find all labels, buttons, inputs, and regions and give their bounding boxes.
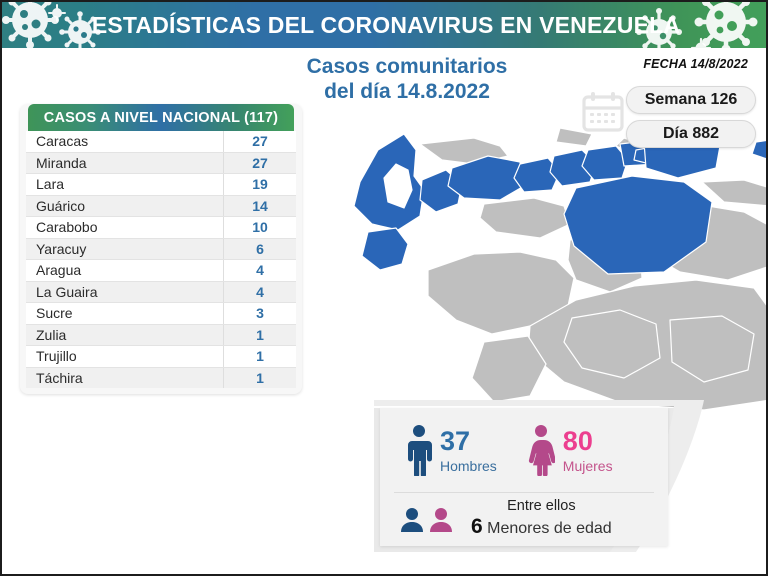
table-cell-cases: 1 [223,325,296,346]
table-cell-state: Táchira [26,370,223,386]
women-label: Mujeres [563,459,613,473]
table-row: Trujillo1 [26,346,296,368]
table-cell-cases: 3 [223,303,296,324]
female-figure-icon [527,424,555,476]
table-cell-cases: 1 [223,368,296,389]
table-row: Lara19 [26,174,296,196]
men-stat: 37 Hombres [406,424,497,476]
table-row: Carabobo10 [26,217,296,239]
demographics-card: 37 Hombres 80 Mujeres [380,408,668,546]
venezuela-map [324,120,766,410]
map-region-tachira [362,228,408,270]
map-region-base [472,336,546,402]
table-cell-state: Trujillo [26,348,223,364]
table-row: Sucre3 [26,303,296,325]
table-cell-cases: 14 [223,196,296,217]
gender-stats-row: 37 Hombres 80 Mujeres [394,408,654,493]
male-figure-icon [406,424,432,476]
table-row: Táchira1 [26,368,296,389]
table-row: La Guaira4 [26,282,296,304]
dia-badge: Día 882 [626,120,756,148]
subtitle-line1: Casos comunitarios [257,54,557,79]
men-label: Hombres [440,459,497,473]
minors-row: Entre ellos 6 Menores de edad [380,493,668,545]
table-cell-state: Lara [26,176,223,192]
map-region-base [480,198,570,238]
table-cell-cases: 27 [223,131,296,152]
table-row: Guárico14 [26,196,296,218]
table-row: Yaracuy6 [26,239,296,261]
table-cell-state: Caracas [26,133,223,149]
subtitle-line2: del día 14.8.2022 [257,79,557,104]
subtitle: Casos comunitarios del día 14.8.2022 [257,54,557,104]
table-row: Miranda27 [26,153,296,175]
minors-intro: Entre ellos [471,499,612,515]
table-cell-state: Carabobo [26,219,223,235]
calendar-icon [580,90,626,134]
two-person-icon [400,506,453,532]
table-cell-state: Sucre [26,305,223,321]
table-cell-state: Aragua [26,262,223,278]
person-icon-female [429,506,453,532]
map-region-zulia [354,134,424,230]
table-row: Caracas27 [26,131,296,153]
men-count: 37 [440,428,470,455]
table-row: Zulia1 [26,325,296,347]
table-cell-state: Guárico [26,198,223,214]
page-title: ESTADÍSTICAS DEL CORONAVIRUS EN VENEZUEL… [2,2,766,48]
table-cell-cases: 19 [223,174,296,195]
table-header: CASOS A NIVEL NACIONAL (117) [28,104,294,131]
table-cell-state: La Guaira [26,284,223,300]
women-stat: 80 Mujeres [527,424,613,476]
table-cell-state: Miranda [26,155,223,171]
table-cell-cases: 1 [223,346,296,367]
table-cell-state: Zulia [26,327,223,343]
semana-badge: Semana 126 [626,86,756,114]
fecha-label: FECHA 14/8/2022 [643,57,748,71]
minors-label: Menores de edad [487,520,612,537]
national-cases-table: CASOS A NIVEL NACIONAL (117) Caracas27Mi… [20,104,302,394]
table-cell-cases: 4 [223,260,296,281]
table-cell-state: Yaracuy [26,241,223,257]
table-cell-cases: 27 [223,153,296,174]
table-cell-cases: 6 [223,239,296,260]
table-body: Caracas27Miranda27Lara19Guárico14Carabob… [26,131,296,388]
minors-count: 6 [471,515,483,538]
table-row: Aragua4 [26,260,296,282]
table-cell-cases: 10 [223,217,296,238]
header-banner: ESTADÍSTICAS DEL CORONAVIRUS EN VENEZUEL… [2,2,766,48]
table-cell-cases: 4 [223,282,296,303]
women-count: 80 [563,428,593,455]
person-icon-male [400,506,424,532]
